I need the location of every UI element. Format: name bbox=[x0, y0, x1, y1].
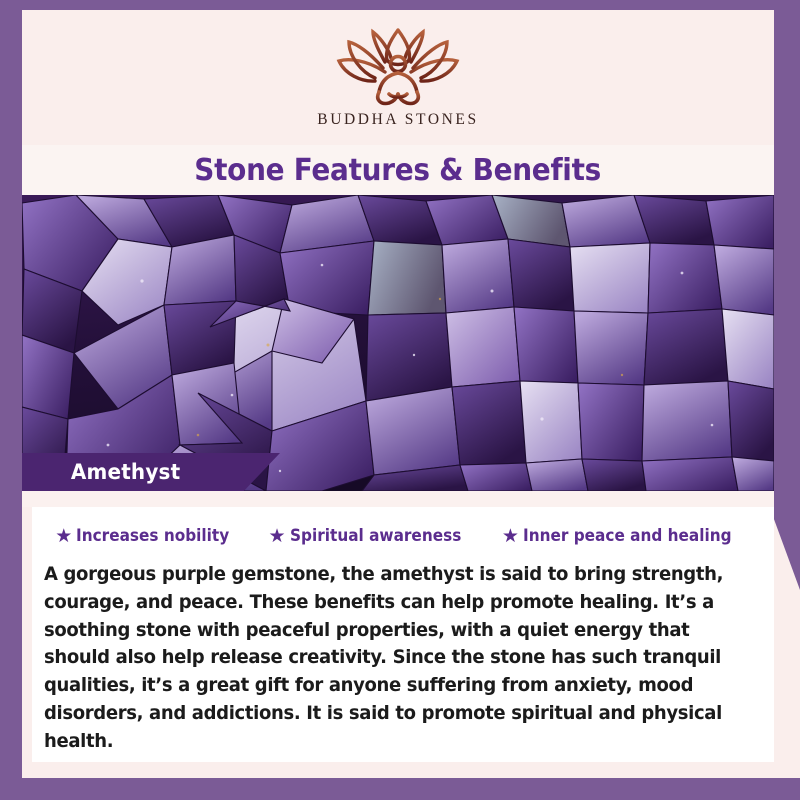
star-icon: ★ bbox=[502, 527, 519, 546]
frame-border-bottom bbox=[0, 778, 800, 800]
title-band: Stone Features & Benefits bbox=[22, 145, 774, 195]
stone-name-banner: Amethyst bbox=[22, 453, 280, 491]
brand-name: BUDDHA STONES bbox=[317, 111, 478, 129]
feature-label: Inner peace and healing bbox=[523, 526, 732, 546]
star-icon: ★ bbox=[55, 527, 72, 546]
feature-item: ★ Inner peace and healing bbox=[502, 526, 755, 546]
divider-strip bbox=[22, 491, 774, 507]
frame-border-left bbox=[0, 0, 22, 800]
amethyst-photo bbox=[22, 195, 774, 491]
feature-label: Spiritual awareness bbox=[290, 526, 461, 546]
feature-list: ★ Increases nobility ★ Spiritual awarene… bbox=[44, 519, 760, 553]
star-icon: ★ bbox=[269, 527, 286, 546]
feature-label: Increases nobility bbox=[76, 526, 229, 546]
brand-logo: BUDDHA STONES bbox=[22, 10, 774, 145]
stone-name: Amethyst bbox=[71, 460, 180, 484]
stone-description: A gorgeous purple gemstone, the amethyst… bbox=[44, 561, 749, 756]
frame-border-right bbox=[774, 0, 800, 590]
feature-item: ★ Increases nobility bbox=[55, 526, 246, 546]
content-panel: ★ Increases nobility ★ Spiritual awarene… bbox=[32, 507, 774, 762]
feature-item: ★ Spiritual awareness bbox=[269, 526, 480, 546]
infographic-page: BUDDHA STONES Stone Features & Benefits bbox=[0, 0, 800, 800]
lotus-meditating-figure-icon bbox=[323, 24, 473, 108]
page-title: Stone Features & Benefits bbox=[195, 153, 602, 188]
frame-border-top bbox=[0, 0, 800, 10]
amethyst-crystal-cluster-illustration bbox=[22, 195, 774, 491]
inner-panel: BUDDHA STONES Stone Features & Benefits bbox=[22, 10, 774, 778]
